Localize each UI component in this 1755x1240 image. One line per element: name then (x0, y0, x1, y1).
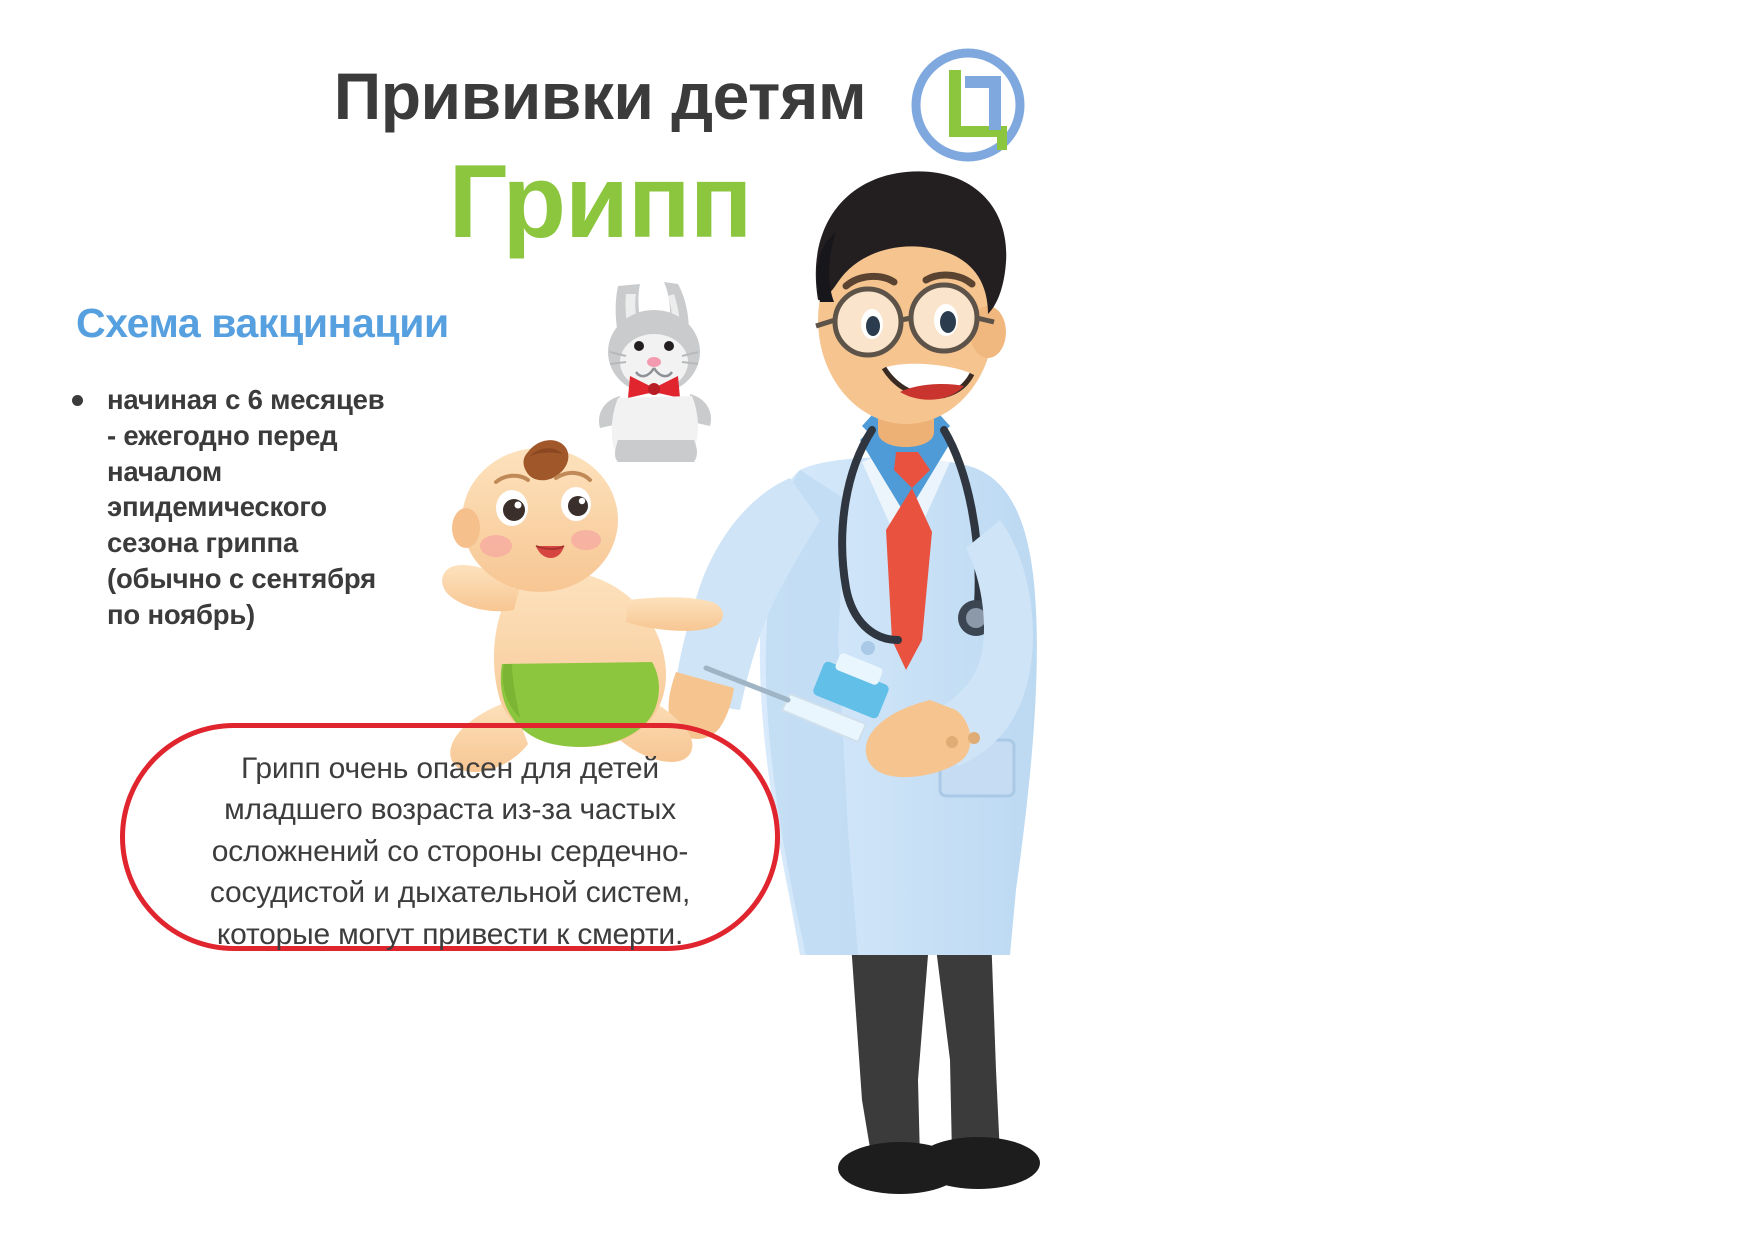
list-item-text: начиная с 6 месяцев - ежегодно перед нач… (107, 382, 384, 632)
list-item: начиная с 6 месяцев - ежегодно перед нач… (72, 382, 472, 632)
page-title: Прививки детям (280, 62, 920, 131)
syringe (706, 652, 890, 742)
page-subtitle: Грипп (280, 148, 920, 257)
clinic-logo (905, 42, 1031, 168)
warning-callout-text: Грипп очень опасен для детей младшего во… (132, 748, 768, 955)
doctor-character (669, 171, 1040, 1194)
vaccination-schedule-list: начиная с 6 месяцев - ежегодно перед нач… (72, 382, 472, 632)
section-heading-vaccination-schedule: Схема вакцинации (76, 300, 449, 347)
bullet-dot-icon (72, 395, 83, 406)
poster-canvas: Прививки детям Грипп Схема вакцинации на… (0, 0, 1755, 1240)
bunny-hand-puppet (599, 282, 711, 462)
